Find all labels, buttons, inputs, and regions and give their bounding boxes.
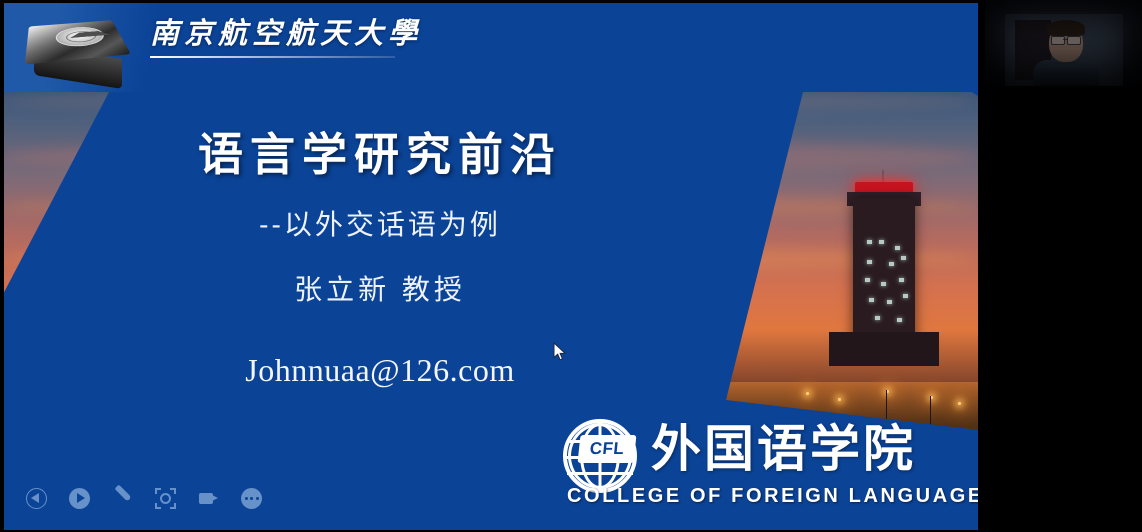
- presentation-slide[interactable]: 南京航空航天大學 语言学研究前沿 --以外交话语为例 张立新 教授 Johnnu…: [0, 0, 978, 532]
- play-next-button[interactable]: [69, 488, 90, 509]
- letterbox-below-webcam: [978, 86, 1142, 532]
- mouse-cursor: [553, 342, 567, 362]
- university-name: 南京航空航天大學: [150, 10, 422, 52]
- cfl-badge: CFL: [578, 435, 637, 463]
- more-options-button[interactable]: [241, 488, 262, 509]
- annotate-pen-button[interactable]: [112, 488, 133, 509]
- slide-left-edge: [0, 0, 4, 532]
- college-chinese-name: 外国语学院: [651, 417, 916, 481]
- presenter-webcam-thumbnail[interactable]: [985, 0, 1142, 86]
- slide-header-band: [0, 0, 978, 92]
- tower-body: [853, 198, 915, 346]
- video-button[interactable]: [198, 488, 219, 509]
- presentation-toolbar[interactable]: [26, 488, 262, 509]
- university-tower-building: [845, 182, 923, 382]
- tower-base: [829, 332, 939, 366]
- nuaa-cube-emblem: [22, 4, 134, 96]
- slide-subtitle: --以外交话语为例: [0, 203, 760, 243]
- college-of-foreign-languages-logo: CFL 外国语学院 COLLEGE OF FOREIGN LANGUAGES: [563, 415, 941, 515]
- slide-main-title: 语言学研究前沿: [0, 118, 760, 183]
- screen-share-view: 南京航空航天大學 语言学研究前沿 --以外交话语为例 张立新 教授 Johnnu…: [0, 0, 1142, 532]
- slide-top-edge: [0, 0, 978, 3]
- presenter-email: Johnnuaa@126.com: [0, 352, 760, 389]
- video-camera-icon: [199, 493, 213, 504]
- college-english-name: COLLEGE OF FOREIGN LANGUAGES: [567, 485, 978, 508]
- previous-slide-button[interactable]: [26, 488, 47, 509]
- spotlight-button[interactable]: [155, 488, 176, 509]
- pencil-icon: [115, 485, 132, 502]
- header-underline: [150, 56, 395, 58]
- presenter-name: 张立新 教授: [0, 268, 760, 308]
